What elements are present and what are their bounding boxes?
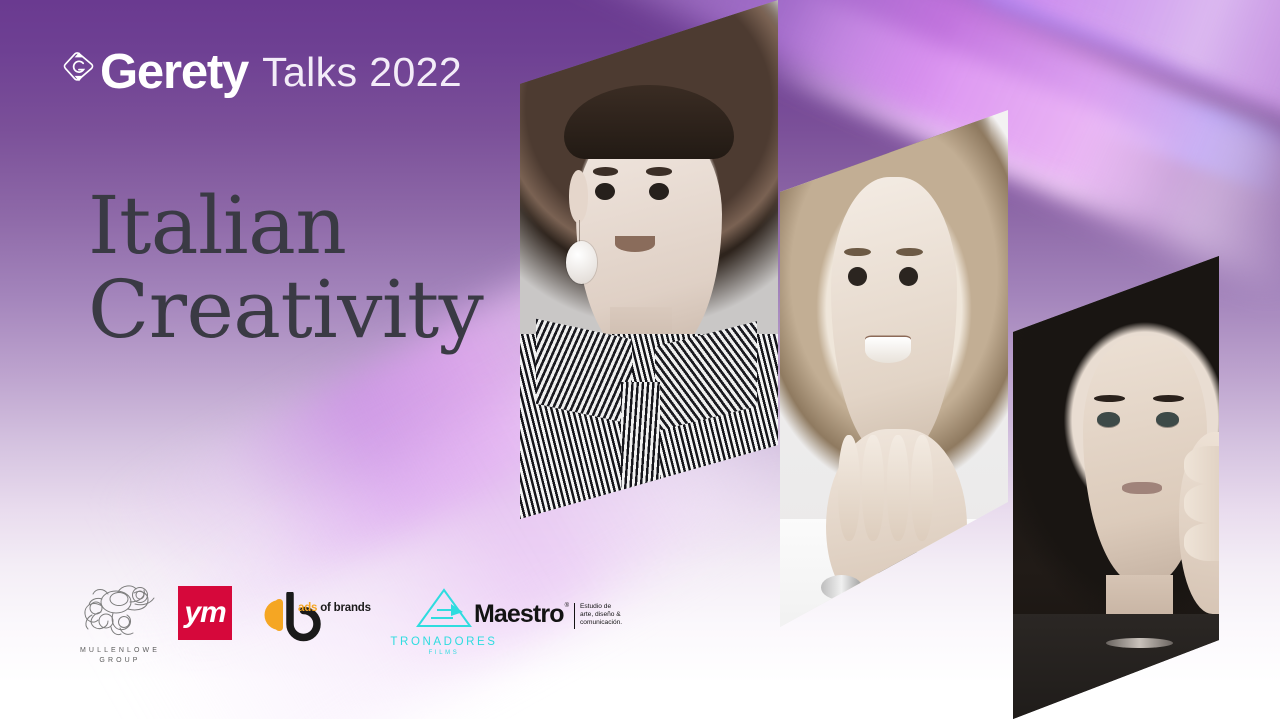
- brand-lockup: Gerety Talks 2022: [62, 48, 462, 96]
- portrait-2-eye-left: [848, 267, 868, 286]
- tronadores-name: TRONADORES: [388, 636, 500, 648]
- portrait-1-earring-disc: [566, 241, 597, 283]
- portrait-1-placket: [621, 382, 660, 530]
- portrait-3-eye-right: [1156, 412, 1179, 426]
- event-name: Talks 2022: [262, 48, 462, 96]
- speaker-portrait-3: [1004, 240, 1280, 719]
- partner-logo-maestro: Maestro ® Estudio de arte, diseño & comu…: [474, 602, 622, 629]
- portrait-3-image: [1004, 240, 1280, 719]
- portrait-2-bracelet: [821, 575, 862, 600]
- portrait-3-brow-left: [1094, 395, 1125, 402]
- ads-of-brands-accent: ads: [298, 602, 317, 614]
- portrait-1-image: [508, 0, 790, 530]
- portrait-2-finger-4: [911, 435, 933, 541]
- ads-of-brands-wordmark: ads of brands: [298, 602, 371, 614]
- octopus-sketch-icon: [72, 627, 168, 644]
- portrait-1-brow-right: [646, 167, 671, 175]
- portrait-1-ear: [569, 170, 589, 223]
- maestro-divider: [574, 603, 575, 629]
- slide-canvas: Gerety Talks 2022 Italian Creativity: [0, 0, 1280, 719]
- portrait-2-image: [772, 82, 1016, 642]
- partner-logo-mullenlowe: MULLENLOWE GROUP: [64, 582, 176, 664]
- triangle-arrow-icon: [413, 617, 475, 634]
- portrait-1-eye-left: [595, 183, 615, 200]
- portrait-3-necklace: [1106, 638, 1174, 649]
- portrait-2-finger-2: [862, 435, 884, 541]
- portrait-2-finger-3: [887, 435, 909, 541]
- portrait-3-finger-1: [1184, 446, 1240, 484]
- portrait-2-brow-left: [844, 248, 871, 256]
- speaker-portrait-2: [772, 82, 1016, 642]
- mullenlowe-sub: GROUP: [64, 657, 176, 664]
- portrait-2-finger-1: [838, 435, 860, 541]
- portrait-3-sweater: [1004, 614, 1280, 719]
- maestro-wordmark: Maestro: [474, 602, 564, 627]
- gerety-diamond-mark-icon: [62, 50, 96, 86]
- portrait-1-eye-right: [649, 183, 669, 200]
- ym-wordmark: ym: [184, 596, 225, 630]
- portrait-2-smile: [865, 337, 911, 363]
- speaker-portrait-1: [508, 0, 790, 530]
- portrait-3-brow-right: [1153, 395, 1184, 402]
- partner-logo-ym: ym: [178, 586, 232, 640]
- portrait-2-eye-right: [899, 267, 919, 286]
- portrait-3-finger-3: [1184, 523, 1240, 561]
- portrait-3-eye-left: [1097, 412, 1120, 426]
- maestro-tagline: Estudio de arte, diseño & comunicación.: [580, 603, 622, 627]
- portrait-3-finger-2: [1184, 484, 1240, 522]
- brand-name: Gerety: [100, 48, 248, 96]
- portrait-3-lips: [1122, 482, 1161, 494]
- ab-monogram-icon: [252, 631, 344, 648]
- maestro-registered-mark: ®: [565, 603, 569, 609]
- partner-logo-strip: MULLENLOWE GROUP ym ads of brands: [56, 578, 656, 670]
- partner-logo-ads-of-brands: ads of brands: [252, 592, 374, 646]
- ads-of-brands-rest: of brands: [317, 602, 371, 614]
- portrait-1-brow-left: [593, 167, 618, 175]
- portrait-1-smile: [615, 236, 654, 252]
- tronadores-sub: FILMS: [388, 650, 500, 656]
- mullenlowe-name: MULLENLOWE: [64, 647, 176, 654]
- page-title: Italian Creativity: [88, 184, 483, 352]
